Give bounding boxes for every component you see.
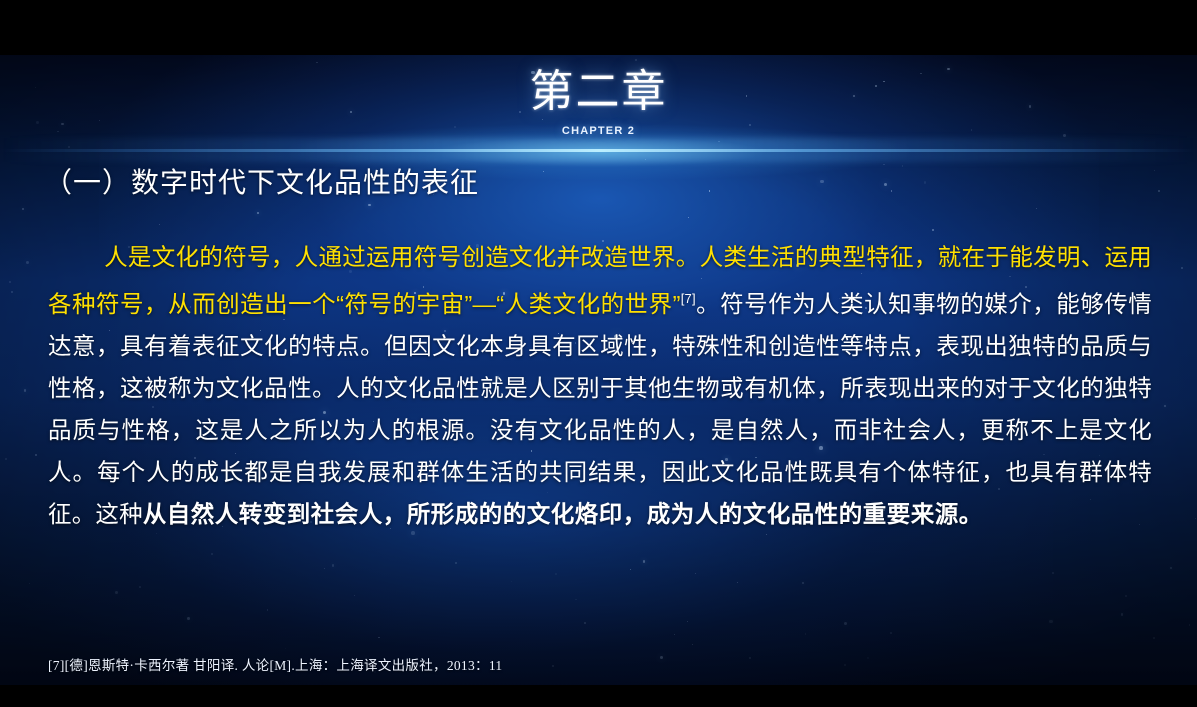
slide-content: 第二章 CHAPTER 2 （一）数字时代下文化品性的表征 人是文化的符号，人通… bbox=[0, 0, 1197, 707]
section-heading: （一）数字时代下文化品性的表征 bbox=[44, 165, 479, 203]
citation-superscript: [7] bbox=[681, 291, 696, 306]
slide-canvas: 第二章 CHAPTER 2 （一）数字时代下文化品性的表征 人是文化的符号，人通… bbox=[0, 0, 1197, 707]
letterbox-bar-top bbox=[0, 0, 1197, 55]
letterbox-bar-bottom bbox=[0, 685, 1197, 707]
chapter-title: 第二章 bbox=[0, 66, 1197, 118]
bold-emphasis-span: 从自然人转变到社会人，所形成的的文化烙印，成为人的文化品性的重要来源。 bbox=[143, 501, 983, 527]
body-paragraph: 人是文化的符号，人通过运用符号创造文化并改造世界。人类生活的典型特征，就在于能发… bbox=[48, 236, 1152, 535]
footnote-reference: [7][德]恩斯特·卡西尔著 甘阳译. 人论[M].上海：上海译文出版社，201… bbox=[48, 657, 502, 675]
chapter-subtitle: CHAPTER 2 bbox=[0, 124, 1197, 138]
body-text-span: 。符号作为人类认知事物的媒介，能够传情达意，具有着表征文化的特点。但因文化本身具… bbox=[48, 291, 1152, 527]
